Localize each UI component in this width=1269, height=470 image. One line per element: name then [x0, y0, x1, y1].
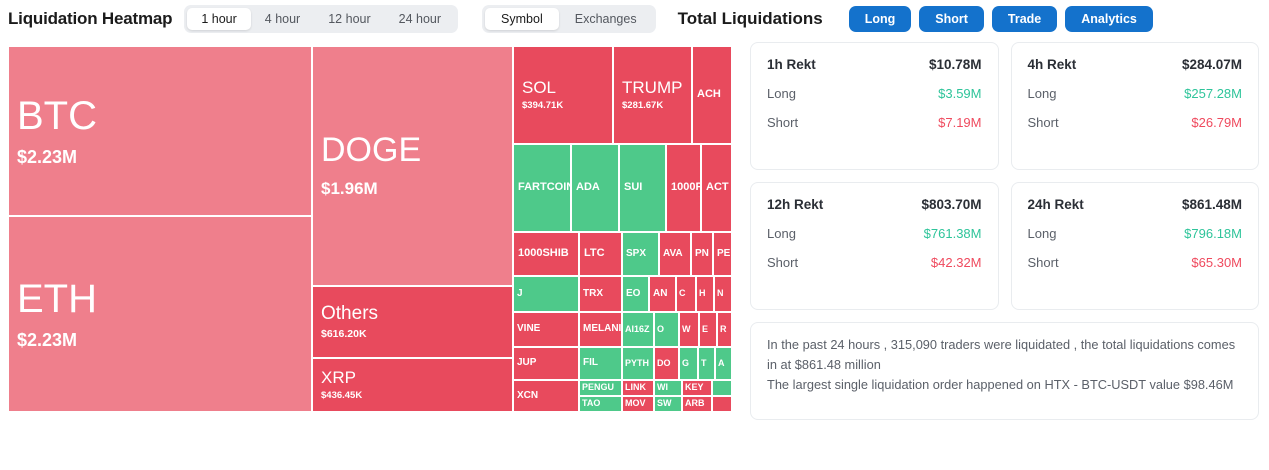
- treemap-cell[interactable]: [712, 396, 732, 412]
- treemap-cell-act[interactable]: ACT: [701, 144, 732, 232]
- treemap-chart: BTC$2.23METH$2.23MDOGE$1.96MOthers$616.2…: [8, 46, 732, 412]
- treemap-cell-symbol: PN: [695, 249, 709, 260]
- card-title: 24h Rekt: [1028, 197, 1084, 212]
- treemap-cell-fil[interactable]: FIL: [579, 347, 622, 380]
- rekt-stat-cards: 1h Rekt$10.78MLong$3.59MShort$7.19M4h Re…: [750, 42, 1259, 310]
- rekt-card-12h: 12h Rekt$803.70MLong$761.38MShort$42.32M: [750, 182, 999, 310]
- card-title: 1h Rekt: [767, 57, 816, 72]
- treemap-cell-xrp[interactable]: XRP$436.45K: [312, 358, 513, 412]
- treemap-cell-symbol: AI16Z: [625, 325, 651, 334]
- card-short-label: Short: [767, 115, 798, 130]
- treemap-cell[interactable]: [712, 380, 732, 396]
- treemap-cell-xcn[interactable]: XCN: [513, 380, 579, 412]
- treemap-cell-symbol: JUP: [517, 358, 575, 369]
- treemap-cell-t[interactable]: T: [698, 347, 715, 380]
- treemap-cell-symbol: H: [699, 289, 711, 298]
- card-total-value: $284.07M: [1182, 57, 1242, 72]
- treemap-cell-symbol: XRP: [321, 369, 504, 387]
- treemap-cell-symbol: TRX: [583, 289, 618, 300]
- treemap-cell-value: $616.20K: [321, 328, 504, 340]
- analytics-button[interactable]: Analytics: [1065, 6, 1153, 32]
- treemap-cell-eth[interactable]: ETH$2.23M: [8, 216, 312, 412]
- treemap-cell-symbol: LINK: [625, 383, 651, 392]
- long-button[interactable]: Long: [849, 6, 912, 32]
- treemap-cell-pengu[interactable]: PENGU: [579, 380, 622, 396]
- treemap-cell-wi[interactable]: WI: [654, 380, 682, 396]
- treemap-cell-doge[interactable]: DOGE$1.96M: [312, 46, 513, 286]
- card-short-label: Short: [1028, 255, 1059, 270]
- treemap-cell-symbol: PENGU: [582, 383, 619, 392]
- treemap-cell-value: $2.23M: [17, 330, 303, 351]
- treemap-cell-c[interactable]: C: [676, 276, 696, 312]
- card-row: Short$26.79M: [1028, 115, 1243, 130]
- treemap-cell-symbol: LTC: [584, 248, 617, 260]
- treemap-cell-pn[interactable]: PN: [691, 232, 713, 276]
- card-row: 12h Rekt$803.70M: [767, 197, 982, 212]
- treemap-cell-symbol: A: [718, 359, 729, 368]
- treemap-cell-symbol: SUI: [624, 182, 661, 194]
- card-row: Short$42.32M: [767, 255, 982, 270]
- card-total-value: $10.78M: [929, 57, 982, 72]
- timeframe-24-hour[interactable]: 24 hour: [385, 8, 455, 30]
- treemap-cell-ach[interactable]: ACH: [692, 46, 732, 144]
- treemap-cell-vine[interactable]: VINE: [513, 312, 579, 347]
- treemap-cell-eo[interactable]: EO: [622, 276, 649, 312]
- treemap-cell-symbol: ADA: [576, 182, 614, 194]
- treemap-cell-symbol: O: [657, 325, 676, 334]
- treemap-cell-arb[interactable]: ARB: [682, 396, 712, 412]
- treemap-cell-symbol: SPX: [626, 249, 655, 260]
- treemap-cell-j[interactable]: J: [513, 276, 579, 312]
- card-title: 12h Rekt: [767, 197, 823, 212]
- treemap-cell-symbol: FARTCOIN: [518, 182, 566, 194]
- timeframe-1-hour[interactable]: 1 hour: [187, 8, 250, 30]
- treemap-cell-ltc[interactable]: LTC: [579, 232, 622, 276]
- treemap-cell-symbol: AVA: [663, 249, 687, 260]
- treemap-cell-do[interactable]: DO: [654, 347, 679, 380]
- card-row: Long$796.18M: [1028, 226, 1243, 241]
- treemap-cell-symbol: FIL: [583, 358, 618, 369]
- treemap-cell-key[interactable]: KEY: [682, 380, 712, 396]
- card-short-label: Short: [767, 255, 798, 270]
- treemap-cell-symbol: 1000P: [671, 182, 696, 194]
- treemap-cell-symbol: 1000SHIB: [518, 248, 574, 260]
- card-long-value: $3.59M: [938, 86, 981, 101]
- card-title: 4h Rekt: [1028, 57, 1077, 72]
- treemap-cell-symbol: C: [679, 289, 693, 298]
- treemap-cell-symbol: SOL: [522, 79, 604, 97]
- top-toolbar: Liquidation Heatmap 1 hour4 hour12 hour2…: [0, 0, 1269, 38]
- treemap-cell-link[interactable]: LINK: [622, 380, 654, 396]
- treemap-cell-symbol: MOV: [625, 399, 651, 408]
- card-long-value: $761.38M: [924, 226, 982, 241]
- treemap-cell-symbol: WI: [657, 383, 679, 392]
- treemap-cell-symbol: ACH: [697, 89, 727, 101]
- card-row: Long$257.28M: [1028, 86, 1243, 101]
- card-long-label: Long: [1028, 226, 1057, 241]
- card-row: Short$7.19M: [767, 115, 982, 130]
- treemap-cell-symbol: J: [517, 289, 575, 300]
- treemap-cell-symbol: PYTH: [625, 359, 651, 368]
- stats-panel: 1h Rekt$10.78MLong$3.59MShort$7.19M4h Re…: [740, 38, 1269, 470]
- treemap-cell-symbol: DOGE: [321, 133, 504, 169]
- treemap-cell-symbol: Others: [321, 304, 504, 324]
- treemap-cell-ada[interactable]: ADA: [571, 144, 619, 232]
- treemap-cell-sol[interactable]: SOL$394.71K: [513, 46, 613, 144]
- treemap-cell-symbol: G: [682, 359, 695, 368]
- timeframe-12-hour[interactable]: 12 hour: [314, 8, 384, 30]
- card-long-value: $796.18M: [1184, 226, 1242, 241]
- card-total-value: $803.70M: [921, 197, 981, 212]
- treemap-cell-symbol: XCN: [517, 391, 575, 402]
- treemap-cell-symbol: MELANIA: [583, 324, 618, 335]
- treemap-cell-pe[interactable]: PE: [713, 232, 732, 276]
- treemap-cell-symbol: AN: [653, 289, 672, 300]
- timeframe-4-hour[interactable]: 4 hour: [251, 8, 314, 30]
- view-mode-selector[interactable]: SymbolExchanges: [482, 5, 656, 33]
- treemap-cell-an[interactable]: AN: [649, 276, 676, 312]
- treemap-cell-mov[interactable]: MOV: [622, 396, 654, 412]
- treemap-cell-symbol: W: [682, 325, 696, 334]
- treemap-cell-value: $394.71K: [522, 100, 604, 111]
- treemap-cell-symbol: TAO: [582, 399, 619, 408]
- summary-box: In the past 24 hours , 315,090 traders w…: [750, 322, 1259, 420]
- treemap-cell-symbol: EO: [626, 289, 645, 300]
- treemap-cell-h[interactable]: H: [696, 276, 714, 312]
- card-long-value: $257.28M: [1184, 86, 1242, 101]
- treemap-cell-symbol: ETH: [17, 278, 303, 320]
- summary-line-1: In the past 24 hours , 315,090 traders w…: [767, 335, 1242, 375]
- card-row: Short$65.30M: [1028, 255, 1243, 270]
- card-row: 1h Rekt$10.78M: [767, 57, 982, 72]
- treemap-cell-value: $2.23M: [17, 147, 303, 168]
- treemap-cell-symbol: BTC: [17, 95, 303, 137]
- rekt-card-1h: 1h Rekt$10.78MLong$3.59MShort$7.19M: [750, 42, 999, 170]
- card-long-label: Long: [767, 86, 796, 101]
- treemap-cell-pyth[interactable]: PYTH: [622, 347, 654, 380]
- treemap-cell-symbol: VINE: [517, 324, 575, 335]
- card-row: 4h Rekt$284.07M: [1028, 57, 1243, 72]
- treemap-cell-sw[interactable]: SW: [654, 396, 682, 412]
- action-buttons: LongShortTradeAnalytics: [849, 6, 1153, 32]
- treemap-cell-sui[interactable]: SUI: [619, 144, 666, 232]
- card-short-label: Short: [1028, 115, 1059, 130]
- treemap-cell-ai16z[interactable]: AI16Z: [622, 312, 654, 347]
- treemap-cell-n[interactable]: N: [714, 276, 732, 312]
- treemap-cell-symbol: PE: [717, 249, 728, 260]
- card-short-value: $7.19M: [938, 115, 981, 130]
- treemap-cell-r[interactable]: R: [717, 312, 732, 347]
- short-button[interactable]: Short: [919, 6, 984, 32]
- treemap-cell-spx[interactable]: SPX: [622, 232, 659, 276]
- card-row: Long$761.38M: [767, 226, 982, 241]
- treemap-cell-symbol: R: [720, 325, 729, 334]
- treemap-cell-symbol: N: [717, 289, 729, 298]
- page-title: Liquidation Heatmap: [8, 9, 172, 29]
- view-mode-exchanges[interactable]: Exchanges: [559, 8, 653, 30]
- treemap-cell-symbol: TRUMP: [622, 79, 683, 97]
- rekt-card-24h: 24h Rekt$861.48MLong$796.18MShort$65.30M: [1011, 182, 1260, 310]
- treemap-cell-symbol: KEY: [685, 383, 709, 392]
- treemap-cell-btc[interactable]: BTC$2.23M: [8, 46, 312, 216]
- treemap-cell-symbol: T: [701, 359, 712, 368]
- card-short-value: $65.30M: [1191, 255, 1242, 270]
- treemap-cell-symbol: ACT: [706, 182, 727, 194]
- treemap-cell-value: $1.96M: [321, 179, 504, 199]
- card-row: 24h Rekt$861.48M: [1028, 197, 1243, 212]
- timeframe-selector[interactable]: 1 hour4 hour12 hour24 hour: [184, 5, 458, 33]
- treemap-cell-e[interactable]: E: [699, 312, 717, 347]
- treemap-cell-trump[interactable]: TRUMP$281.67K: [613, 46, 692, 144]
- view-mode-symbol[interactable]: Symbol: [485, 8, 559, 30]
- treemap-cell-o[interactable]: O: [654, 312, 679, 347]
- card-short-value: $42.32M: [931, 255, 982, 270]
- treemap-cell-tao[interactable]: TAO: [579, 396, 622, 412]
- trade-button[interactable]: Trade: [992, 6, 1057, 32]
- card-row: Long$3.59M: [767, 86, 982, 101]
- treemap-cell-w[interactable]: W: [679, 312, 699, 347]
- treemap-cell-others[interactable]: Others$616.20K: [312, 286, 513, 358]
- treemap-cell-1000p[interactable]: 1000P: [666, 144, 701, 232]
- main-content: BTC$2.23METH$2.23MDOGE$1.96MOthers$616.2…: [0, 38, 1269, 470]
- treemap-cell-symbol: DO: [657, 359, 676, 368]
- treemap-cell-melania[interactable]: MELANIA: [579, 312, 622, 347]
- treemap-cell-trx[interactable]: TRX: [579, 276, 622, 312]
- card-long-label: Long: [1028, 86, 1057, 101]
- treemap-cell-value: $281.67K: [622, 100, 683, 111]
- total-liquidations-title: Total Liquidations: [678, 9, 823, 29]
- treemap-cell-1000shib[interactable]: 1000SHIB: [513, 232, 579, 276]
- treemap-cell-g[interactable]: G: [679, 347, 698, 380]
- treemap-cell-fartcoin[interactable]: FARTCOIN: [513, 144, 571, 232]
- liquidation-heatmap-panel: BTC$2.23METH$2.23MDOGE$1.96MOthers$616.2…: [0, 38, 740, 470]
- treemap-cell-a[interactable]: A: [715, 347, 732, 380]
- card-total-value: $861.48M: [1182, 197, 1242, 212]
- treemap-cell-symbol: ARB: [685, 399, 709, 408]
- rekt-card-4h: 4h Rekt$284.07MLong$257.28MShort$26.79M: [1011, 42, 1260, 170]
- treemap-cell-symbol: E: [702, 325, 714, 334]
- summary-line-2: The largest single liquidation order hap…: [767, 375, 1242, 395]
- treemap-cell-jup[interactable]: JUP: [513, 347, 579, 380]
- treemap-cell-symbol: SW: [657, 399, 679, 408]
- treemap-cell-ava[interactable]: AVA: [659, 232, 691, 276]
- card-long-label: Long: [767, 226, 796, 241]
- treemap-cell-value: $436.45K: [321, 390, 504, 401]
- card-short-value: $26.79M: [1191, 115, 1242, 130]
